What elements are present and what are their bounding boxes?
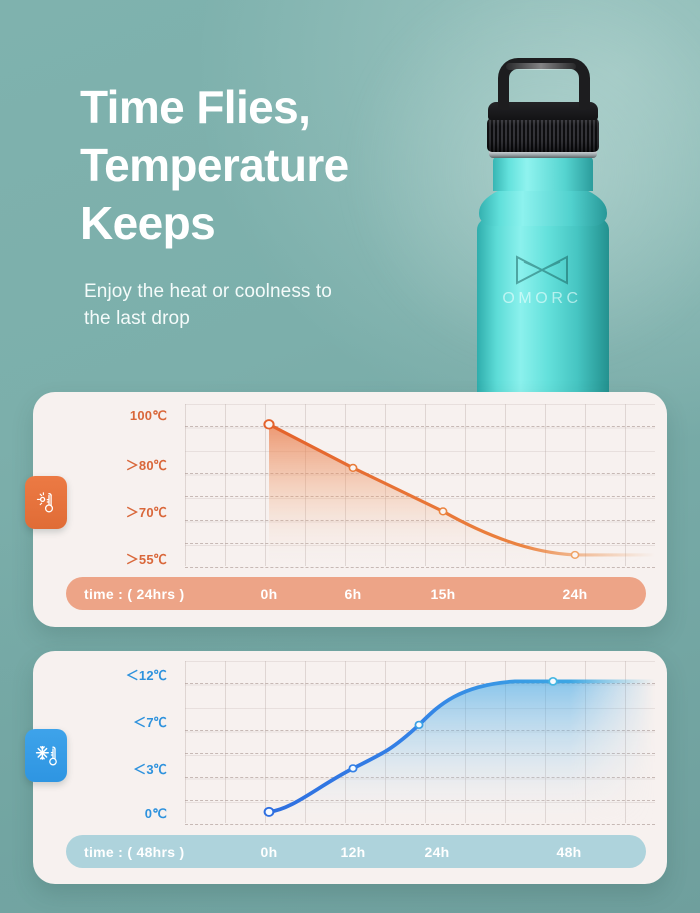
x-axis-tick: 0h — [261, 844, 278, 860]
cold-chart-svg — [185, 661, 655, 823]
y-axis-label: ＜7℃ — [81, 712, 167, 731]
data-point — [549, 678, 557, 685]
hero-section: Time Flies, Temperature Keeps Enjoy the … — [80, 78, 470, 332]
cold-snowflake-thermometer-icon — [35, 744, 58, 768]
heat-chart-svg — [185, 404, 655, 566]
gridline-dashed — [185, 824, 655, 825]
page-title: Time Flies, Temperature Keeps — [80, 78, 470, 252]
bottle-neck-icon — [493, 157, 593, 191]
cold-area-fill — [269, 681, 655, 823]
data-point — [265, 808, 274, 816]
bottle-handle-highlight-icon — [506, 63, 576, 70]
cold-chart-plot — [185, 661, 655, 823]
x-axis-tick: 15h — [430, 586, 455, 602]
data-point — [349, 765, 356, 772]
y-axis-label: 0℃ — [81, 806, 167, 822]
page-subtitle: Enjoy the heat or coolness to the last d… — [84, 278, 470, 332]
y-axis-label: ＜12℃ — [81, 665, 167, 684]
heat-time-axis-bar: time : ( 24hrs ) 0h 6h 15h 24h — [66, 577, 646, 610]
data-point — [571, 552, 578, 559]
y-axis-label: ＜3℃ — [81, 759, 167, 778]
cold-time-axis-bar: time : ( 48hrs ) 0h 12h 24h 48h — [66, 835, 646, 868]
data-point — [439, 508, 446, 515]
brand-name: OMORC — [462, 290, 622, 308]
x-axis-tick: 0h — [261, 586, 278, 602]
y-axis-label: 100℃ — [81, 408, 167, 424]
x-axis-tick: 24h — [424, 844, 449, 860]
x-axis-tick: 48h — [556, 844, 581, 860]
hot-thermometer-icon — [35, 491, 57, 515]
cold-retention-card: ＜12℃ ＜7℃ ＜3℃ 0℃ time : ( 48hrs ) 0h 12h … — [33, 651, 667, 884]
y-axis-label: ＞55℃ — [81, 549, 167, 568]
gridline-dashed — [185, 567, 655, 568]
bottle-body-icon — [477, 218, 609, 400]
y-axis-label: ＞70℃ — [81, 502, 167, 521]
heat-chart-plot — [185, 404, 655, 566]
data-point — [415, 722, 422, 729]
data-point — [264, 420, 273, 429]
x-axis-title: time : ( 24hrs ) — [84, 586, 185, 602]
data-point — [349, 465, 356, 472]
cold-badge — [25, 729, 67, 782]
product-bottle-image: OMORC — [462, 58, 622, 398]
x-axis-title: time : ( 48hrs ) — [84, 844, 185, 860]
bottle-collar-icon — [489, 151, 597, 158]
heat-retention-card: 100℃ ＞80℃ ＞70℃ ＞55℃ time : ( 24hrs ) 0h … — [33, 392, 667, 627]
bottle-cap-icon — [487, 118, 599, 152]
heat-area-fill — [269, 424, 655, 566]
y-axis-label: ＞80℃ — [81, 455, 167, 474]
hot-badge — [25, 476, 67, 529]
x-axis-tick: 6h — [345, 586, 362, 602]
x-axis-tick: 12h — [340, 844, 365, 860]
x-axis-tick: 24h — [562, 586, 587, 602]
omorc-bowtie-logo-icon — [513, 253, 571, 287]
